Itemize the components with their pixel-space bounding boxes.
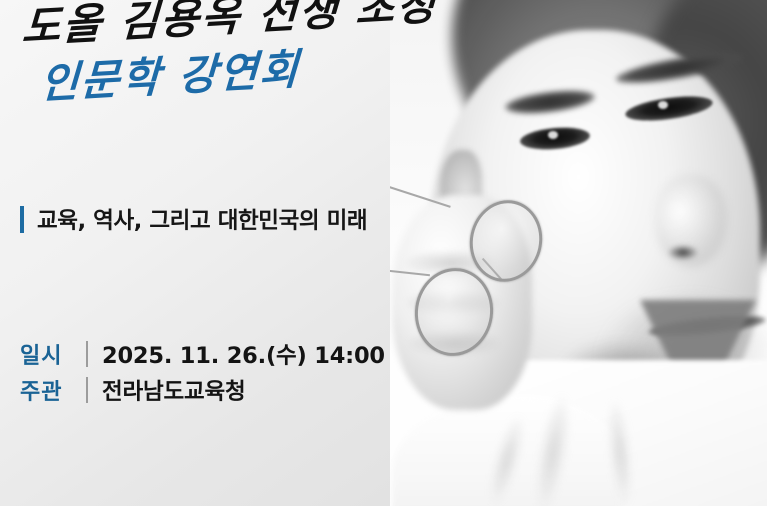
info-value-host: 전라남도교육청 xyxy=(102,374,246,406)
eye-right-highlight xyxy=(658,101,668,109)
info-label-date: 일시 xyxy=(20,338,82,370)
info-row-host: 주관 전라남도교육청 xyxy=(20,372,385,408)
info-divider-date xyxy=(86,341,88,367)
headline-line-2: 인문학 강연회 xyxy=(39,39,453,106)
lecture-poster: 도올 김용옥 선생 초청 인문학 강연회 교육, 역사, 그리고 대한민국의 미… xyxy=(0,0,767,506)
nostril-shape xyxy=(668,245,698,260)
headline: 도올 김용옥 선생 초청 인문학 강연회 xyxy=(22,6,452,106)
info-divider-host xyxy=(86,377,88,403)
info-row-date: 일시 2025. 11. 26.(수) 14:00 xyxy=(20,336,385,372)
subtitle-text: 교육, 역사, 그리고 대한민국의 미래 xyxy=(37,203,367,235)
subtitle-row: 교육, 역사, 그리고 대한민국의 미래 xyxy=(20,203,367,235)
info-block: 일시 2025. 11. 26.(수) 14:00 주관 전라남도교육청 xyxy=(20,336,385,408)
info-value-date: 2025. 11. 26.(수) 14:00 xyxy=(102,338,385,370)
info-label-host: 주관 xyxy=(20,374,82,406)
eye-left-highlight xyxy=(548,131,558,139)
accent-bar-icon xyxy=(20,206,24,233)
